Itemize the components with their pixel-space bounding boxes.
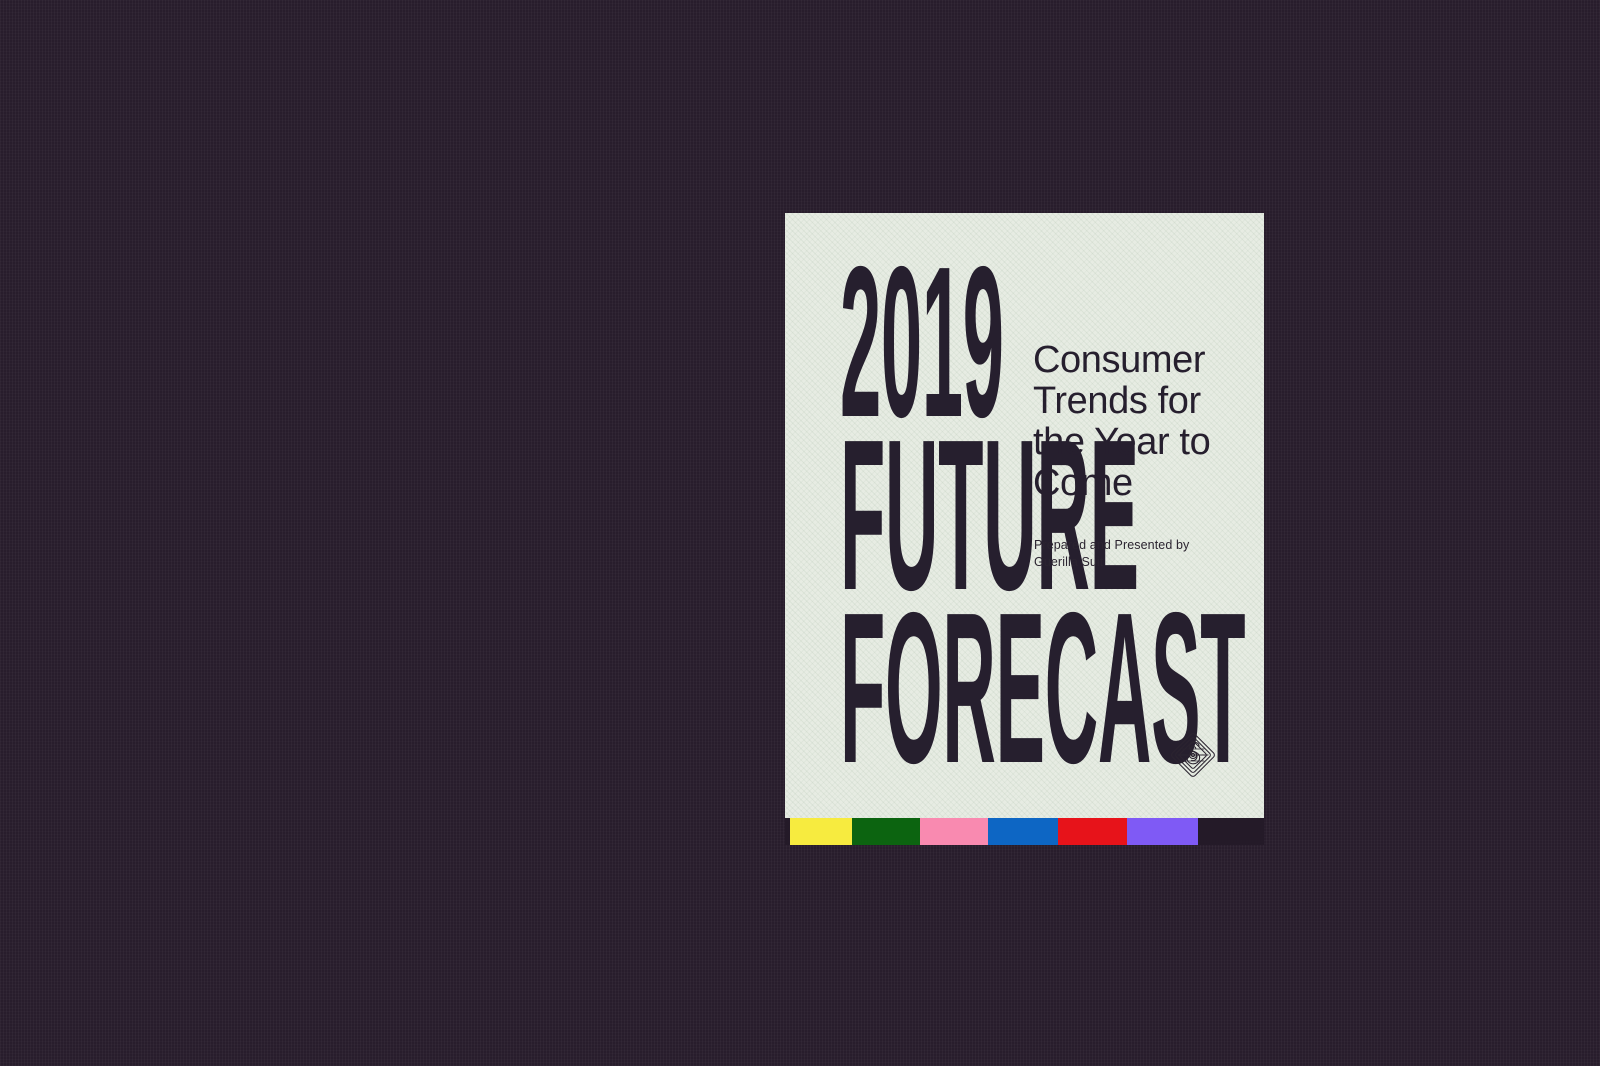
guerilla-suit-monogram-icon	[1166, 728, 1220, 782]
color-swatch-pink	[920, 818, 988, 845]
credit-line-1: Prepared and Presented by	[1034, 537, 1234, 554]
color-swatch-red	[1058, 818, 1127, 845]
cover-card: 2019 FUTURE FORECAST Consumer Trends for…	[785, 213, 1264, 845]
color-swatch-purple	[1127, 818, 1198, 845]
credit-line-2: Guerilla Suit	[1034, 554, 1234, 571]
color-swatch-dark-end	[1198, 818, 1264, 845]
color-swatch-blue	[988, 818, 1058, 845]
color-swatch-green	[852, 818, 920, 845]
cover-subtitle: Consumer Trends for the Year to Come	[1033, 340, 1238, 504]
color-strip	[785, 818, 1264, 845]
cover-credit: Prepared and Presented by Guerilla Suit	[1034, 537, 1234, 571]
headline-line-3-wrap: FORECAST	[840, 604, 1600, 774]
cover-headline: 2019 FUTURE FORECAST	[840, 258, 1600, 774]
color-swatch-yellow	[790, 818, 852, 845]
